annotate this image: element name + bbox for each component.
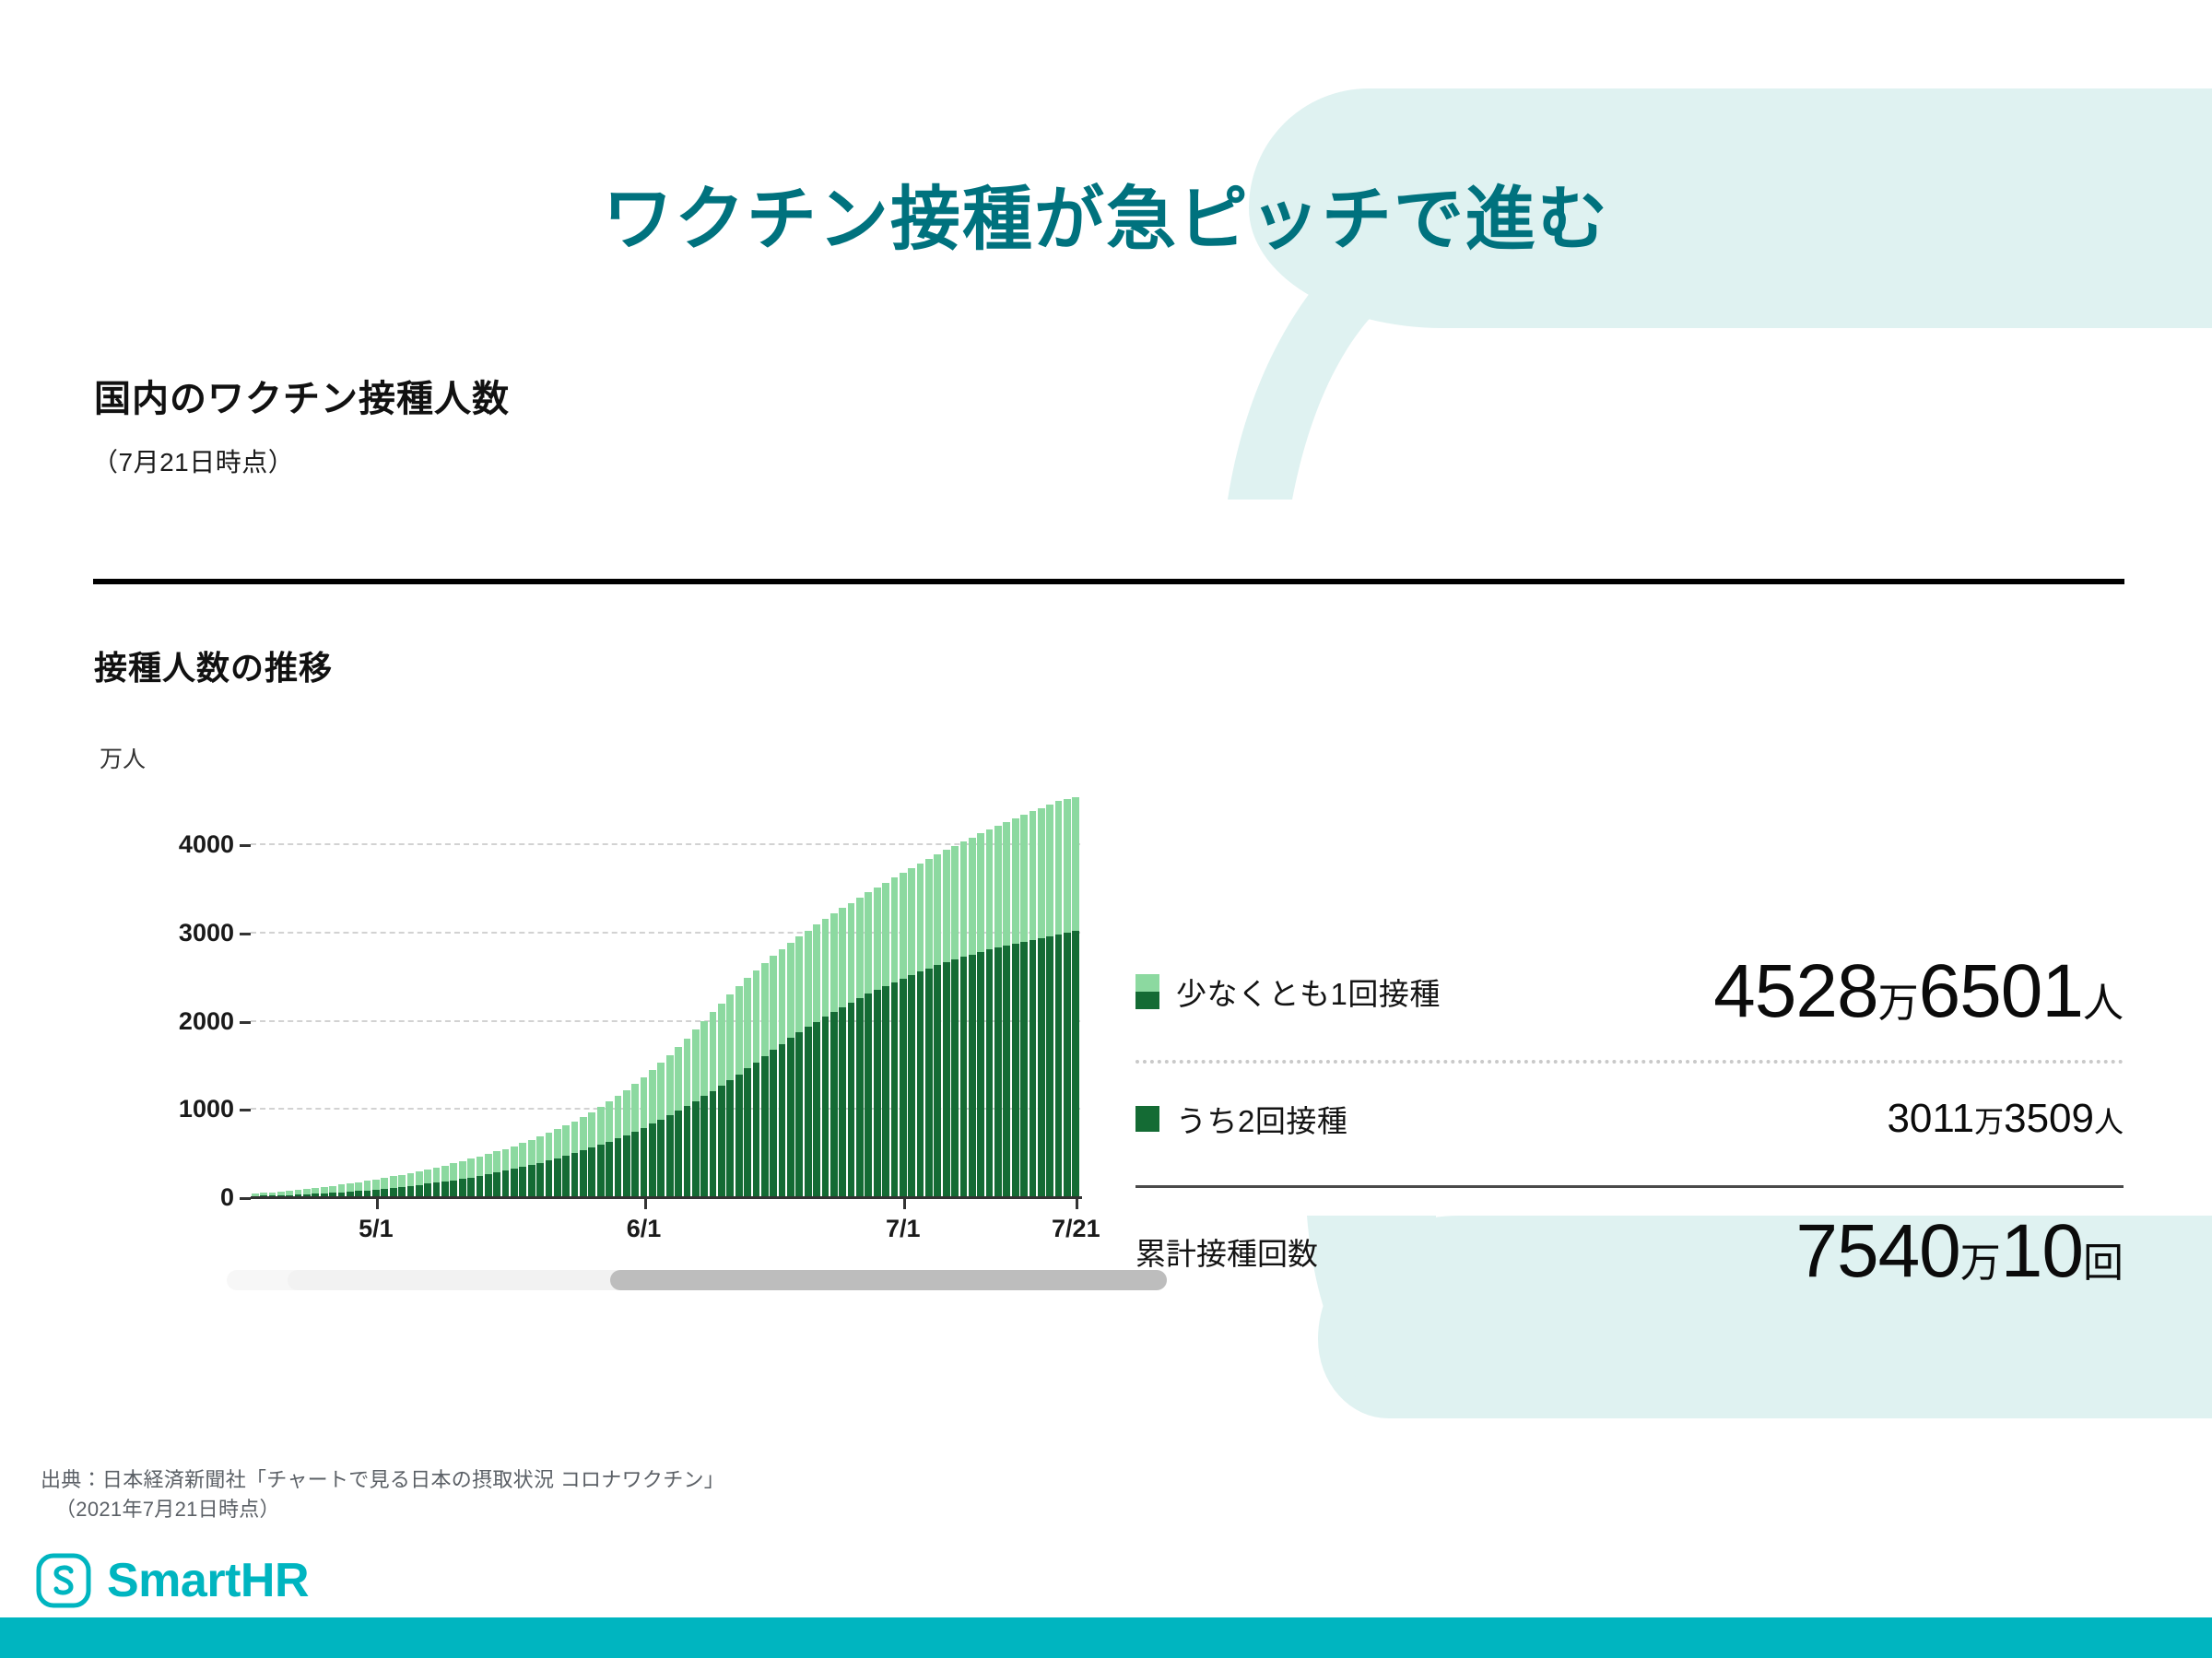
chart-scrollbar[interactable] [227, 1270, 1167, 1290]
chart-bar [950, 791, 959, 1196]
stat-value-main-2: 3011 [1887, 1096, 1974, 1141]
chart-bar [415, 791, 423, 1196]
chart-bar-segment-first-dose [1064, 799, 1071, 933]
chart-bar-segment-first-dose [830, 913, 838, 1011]
chart-bar [1072, 791, 1080, 1196]
chart-bar-segment-first-dose [615, 1096, 622, 1138]
chart-bar [847, 791, 855, 1196]
chart-bar-segment-second-dose [779, 1044, 786, 1196]
y-axis-tick-label: 1000 [179, 1095, 234, 1123]
chart-bar-segment-second-dose [372, 1190, 380, 1196]
chart-bar [865, 791, 873, 1196]
chart-bar-segment-second-dose [917, 971, 924, 1196]
chart-bar-segment-second-dose [753, 1063, 760, 1196]
slide-canvas: ワクチン接種が急ピッチで進む 国内のワクチン接種人数 （7月21日時点） 接種人… [0, 0, 2212, 1658]
smarthr-s-icon [35, 1552, 92, 1609]
stat-value-sub-3: 10 [2001, 1209, 2083, 1293]
chart-bar [908, 791, 916, 1196]
chart-bar [648, 791, 656, 1196]
chart-bar-segment-first-dose [934, 854, 941, 965]
chart-bar-segment-first-dose [761, 963, 769, 1056]
y-axis-tick-label: 2000 [179, 1007, 234, 1036]
chart-bar-segment-second-dose [822, 1017, 829, 1196]
chart-bar [286, 791, 294, 1196]
chart-bar [501, 791, 510, 1196]
chart-bar-segment-first-dose [960, 841, 968, 957]
stat-legend-two-doses: うち2回接種 [1135, 1097, 1347, 1141]
chart-bar [700, 791, 709, 1196]
chart-bar [1011, 791, 1019, 1196]
chart-bar-segment-first-dose [744, 978, 751, 1068]
chart-bar [873, 791, 881, 1196]
stat-value-two-doses: 3011万3509人 [1887, 1096, 2124, 1142]
chart-bar-segment-second-dose [485, 1174, 492, 1196]
chart-bar-segment-second-dose [597, 1145, 605, 1196]
chart-bar-segment-first-dose [347, 1183, 354, 1192]
y-axis-tick-mark [240, 1109, 251, 1111]
chart-bar-segment-first-dose [813, 924, 820, 1021]
bottom-brand-bar [0, 1617, 2212, 1658]
chart-bar [371, 791, 380, 1196]
chart-bar-segment-first-dose [943, 850, 950, 962]
chart-bar-segment-first-dose [398, 1175, 406, 1187]
chart-bar [726, 791, 735, 1196]
chart-bar [320, 791, 328, 1196]
chart-bar-segment-second-dose [684, 1106, 691, 1196]
chart-bar [596, 791, 605, 1196]
x-axis-tick-label: 6/1 [627, 1215, 662, 1243]
chart-bar-segment-first-dose [338, 1184, 346, 1192]
chart-bar-segment-first-dose [666, 1055, 674, 1115]
chart-bar [839, 791, 847, 1196]
chart-bar-segment-first-dose [726, 994, 734, 1080]
chart-bar [251, 791, 259, 1196]
chart-bar [674, 791, 682, 1196]
chart-bar [397, 791, 406, 1196]
chart-bar-segment-second-dose [934, 965, 941, 1196]
chart-bar-segment-first-dose [493, 1151, 500, 1172]
stat-value-main-1: 4528 [1713, 949, 1877, 1033]
chart-bar [770, 791, 778, 1196]
chart-bar [829, 791, 838, 1196]
smarthr-logo: SmartHR [35, 1552, 309, 1609]
legend-swatch-solid-icon [1135, 1106, 1159, 1132]
chart-bar [605, 791, 613, 1196]
chart-bar-segment-first-dose [606, 1101, 613, 1141]
chart-bar [640, 791, 648, 1196]
chart-bar-segment-first-dose [1030, 811, 1037, 940]
chart-bar [493, 791, 501, 1196]
source-note: 出典：日本経済新聞社「チャートで見る日本の摂取状況 コロナワクチン」 （2021… [41, 1465, 724, 1524]
stat-value-unit2-2: 人 [2094, 1105, 2124, 1138]
chart-bar [924, 791, 933, 1196]
chart-bar [579, 791, 587, 1196]
chart-bar-segment-second-dose [977, 952, 984, 1196]
chart-bar-segment-second-dose [1055, 935, 1063, 1196]
chart-bar [994, 791, 1002, 1196]
chart-bar-segment-first-dose [364, 1181, 371, 1190]
chart-bar-segment-second-dose [580, 1150, 587, 1196]
chart-bar-segment-second-dose [865, 994, 872, 1196]
x-axis-tick-label: 5/1 [359, 1215, 394, 1243]
chart-bar [614, 791, 622, 1196]
chart-bar-segment-first-dose [795, 936, 803, 1032]
chart-bar-segment-first-dose [580, 1117, 587, 1151]
chart-bar [1063, 791, 1071, 1196]
stat-legend-total-doses: 累計接種回数 [1135, 1229, 1318, 1274]
chart-bar-segment-first-dose [882, 883, 889, 986]
chart-bar-segment-first-dose [657, 1063, 665, 1120]
chart-bar [346, 791, 354, 1196]
chart-bar-segment-first-dose [355, 1182, 362, 1192]
chart-bar-segment-first-dose [986, 829, 994, 949]
chart-bar [1003, 791, 1011, 1196]
x-axis-tick-mark [376, 1196, 379, 1209]
chart-bar-segment-first-dose [994, 826, 1002, 947]
chart-bar-segment-first-dose [822, 919, 829, 1017]
chart-bar-segment-second-dose [1064, 933, 1071, 1196]
chart-bar-segment-first-dose [381, 1178, 388, 1189]
chart-bar-segment-first-dose [779, 949, 786, 1044]
chart-bar-segment-second-dose [467, 1178, 475, 1196]
chart-bar [466, 791, 475, 1196]
legend-swatch-split-icon [1135, 974, 1159, 1009]
chart-bar-segment-first-dose [1046, 805, 1053, 936]
chart-bar-segment-first-dose [321, 1187, 328, 1194]
chart-bar-segment-first-dose [848, 903, 855, 1003]
chart-bar-segment-second-dose [951, 959, 959, 1196]
chart-bar-segment-first-dose [839, 908, 846, 1006]
chart-bar-segment-second-dose [562, 1156, 570, 1196]
chart-bar-segment-second-dose [424, 1183, 431, 1196]
x-axis-tick-mark [903, 1196, 906, 1209]
chart-bar-segment-first-dose [787, 943, 794, 1038]
chart-bar [683, 791, 691, 1196]
chart-bar-segment-second-dose [856, 998, 864, 1196]
chart-bar [519, 791, 527, 1196]
chart-bar-segment-first-dose [874, 888, 881, 990]
chart-bar-segment-second-dose [882, 986, 889, 1196]
chart-bar-segment-first-dose [917, 864, 924, 972]
chart-bar-segment-second-dose [519, 1167, 526, 1196]
stat-value-unit1-2: 万 [1974, 1105, 2004, 1138]
chart-bar [259, 791, 267, 1196]
y-axis-tick-label: 3000 [179, 919, 234, 947]
chart-bar-segment-second-dose [994, 947, 1002, 1196]
chart-bar-segment-second-dose [554, 1158, 561, 1196]
chart-bar [450, 791, 458, 1196]
chart-bar-segment-second-dose [726, 1080, 734, 1196]
chart-bar [562, 791, 571, 1196]
chart-bar-segment-second-dose [459, 1179, 466, 1196]
chart-bar [328, 791, 336, 1196]
chart-bar [276, 791, 285, 1196]
chart-bar-segment-second-dose [813, 1022, 820, 1196]
chart-heading: 接種人数の推移 [94, 641, 333, 689]
chart-bar-segment-first-dose [856, 898, 864, 998]
x-axis-tick-mark [644, 1196, 647, 1209]
chart-bar [1019, 791, 1028, 1196]
chart-bar-segment-second-dose [416, 1185, 423, 1196]
chart-bar-segment-second-dose [606, 1142, 613, 1196]
chart-bar-segment-second-dose [528, 1165, 535, 1196]
chart-bar-segment-second-dose [692, 1101, 700, 1196]
chart-bar [804, 791, 812, 1196]
chart-bar-segment-first-dose [588, 1112, 595, 1148]
chart-bar [355, 791, 363, 1196]
x-axis-tick-label: 7/21 [1052, 1215, 1100, 1243]
stat-value-unit1-1: 万 [1878, 981, 1919, 1026]
chart-bar-segment-second-dose [450, 1181, 457, 1197]
chart-bar [527, 791, 535, 1196]
chart-bar-segment-first-dose [562, 1125, 570, 1156]
chart-bar [631, 791, 640, 1196]
chart-bar-segment-first-dose [467, 1158, 475, 1177]
chart-bar-segment-first-dose [805, 931, 812, 1028]
chart-bar-segment-first-dose [969, 838, 976, 955]
chart-bar [795, 791, 804, 1196]
chart-bar-segment-first-dose [684, 1039, 691, 1106]
stat-value-sub-1: 6501 [1919, 949, 2083, 1033]
chart-bar [821, 791, 829, 1196]
stat-value-at-least-one-dose: 4528万6501人 [1713, 948, 2124, 1035]
chart-bar-segment-first-dose [424, 1170, 431, 1183]
chart-bar-segment-second-dose [770, 1050, 777, 1196]
stats-panel: 少なくとも1回接種 4528万6501人 うち2回接種 3011万3509人 累… [1135, 940, 2124, 1306]
horizontal-divider [93, 579, 2124, 584]
chart-bar-segment-second-dose [908, 975, 915, 1196]
chart-bar-segment-first-dose [977, 833, 984, 952]
chart-bar [890, 791, 899, 1196]
chart-bar [1046, 791, 1054, 1196]
y-axis-tick-mark [240, 1197, 251, 1200]
chart-bar [916, 791, 924, 1196]
chart-bar [959, 791, 968, 1196]
chart-bar-segment-first-dose [536, 1136, 544, 1163]
chart-bar-segment-first-dose [1038, 808, 1045, 938]
chart-bar-segment-first-dose [710, 1012, 717, 1091]
chart-bar-segment-second-dose [795, 1032, 803, 1196]
chart-bar-segment-first-dose [718, 1004, 725, 1086]
chart-bar-segment-second-dose [657, 1120, 665, 1196]
chart-bar-segment-second-dose [433, 1182, 441, 1196]
chart-bar-segment-second-dose [441, 1182, 449, 1196]
chart-bar-segment-first-dose [1012, 818, 1019, 944]
chart-bar-segment-first-dose [1072, 797, 1079, 931]
chart-bar-segment-first-dose [951, 846, 959, 959]
chart-bar-segment-first-dose [407, 1173, 415, 1186]
chart-bar [778, 791, 786, 1196]
chart-bar-segment-second-dose [649, 1123, 656, 1196]
chart-bar-segment-first-dose [1003, 822, 1010, 946]
chart-bar-segment-first-dose [735, 986, 743, 1075]
chart-bar [545, 791, 553, 1196]
chart-bar [743, 791, 751, 1196]
chart-bar [1037, 791, 1045, 1196]
chart-bar-segment-second-dose [744, 1068, 751, 1196]
chart-bar [458, 791, 466, 1196]
chart-bar-segment-second-dose [493, 1172, 500, 1196]
chart-bar [691, 791, 700, 1196]
chart-bar-segment-first-dose [390, 1176, 397, 1187]
chart-bar-segment-second-dose [390, 1188, 397, 1196]
chart-bar [812, 791, 820, 1196]
chart-bar-segment-second-dose [536, 1163, 544, 1196]
stat-value-unit1-3: 万 [1960, 1241, 2001, 1286]
chart-bar-segment-second-dose [381, 1189, 388, 1196]
chart-bar [389, 791, 397, 1196]
chart-bar-segment-second-dose [830, 1012, 838, 1196]
chart-bar [424, 791, 432, 1196]
chart-bar-segment-first-dose [441, 1166, 449, 1182]
chart-bar [312, 791, 320, 1196]
chart-bar-segment-first-dose [511, 1146, 518, 1170]
chart-bar [337, 791, 346, 1196]
stats-dotted-separator [1135, 1060, 2124, 1064]
chart-bar-segment-first-dose [459, 1161, 466, 1179]
stat-label-total-doses: 累計接種回数 [1135, 1229, 1318, 1274]
chart-bar-segment-second-dose [615, 1138, 622, 1196]
chart-bar-segment-first-dose [477, 1157, 484, 1176]
stat-row-at-least-one-dose: 少なくとも1回接種 4528万6501人 [1135, 940, 2124, 1043]
chart-bar [622, 791, 630, 1196]
chart-bar-segment-first-dose [770, 956, 777, 1050]
chart-bar-segment-second-dose [805, 1027, 812, 1196]
chart-bar-segment-first-dose [1055, 801, 1063, 935]
chart-bar-segment-second-dose [839, 1007, 846, 1196]
chart-bar-segment-second-dose [874, 990, 881, 1196]
section-heading: 国内のワクチン接種人数 [94, 369, 510, 422]
stat-label-at-least-one-dose: 少なくとも1回接種 [1176, 970, 1441, 1014]
chart-bar-segment-second-dose [1030, 940, 1037, 1196]
chart-bar [934, 791, 942, 1196]
chart-scrollbar-thumb[interactable] [610, 1270, 1167, 1290]
chart-bar [855, 791, 864, 1196]
chart-bars [251, 791, 1080, 1196]
stat-value-sub-2: 3509 [2004, 1096, 2094, 1141]
chart-bar-segment-second-dose [675, 1111, 682, 1196]
chart-bar [881, 791, 889, 1196]
chart-bar [735, 791, 743, 1196]
chart-bar-segment-second-dose [891, 982, 899, 1196]
chart-bar [302, 791, 311, 1196]
stat-value-total-doses: 7540万10回 [1795, 1208, 2124, 1295]
chart-bar-segment-second-dose [641, 1128, 648, 1197]
chart-bar [381, 791, 389, 1196]
chart-bar-segment-first-dose [649, 1070, 656, 1123]
chart-bar-segment-first-dose [546, 1133, 553, 1160]
stat-value-unit2-1: 人 [2083, 981, 2124, 1026]
chart-bar-segment-second-dose [700, 1096, 708, 1196]
chart-bar [363, 791, 371, 1196]
chart-bar-segment-second-dose [407, 1186, 415, 1196]
chart-bar [588, 791, 596, 1196]
chart-bar [1054, 791, 1063, 1196]
smarthr-wordmark: SmartHR [107, 1553, 309, 1608]
y-axis-tick-mark [240, 844, 251, 847]
chart-bar-segment-first-dose [554, 1129, 561, 1158]
chart-bar-segment-first-dose [700, 1021, 708, 1097]
chart-bar [1029, 791, 1037, 1196]
chart-bar-segment-second-dose [398, 1187, 406, 1196]
chart-bar-segment-second-dose [623, 1135, 630, 1196]
chart-bar [294, 791, 302, 1196]
chart-bar-segment-first-dose [908, 868, 915, 975]
chart-bar [406, 791, 415, 1196]
chart-bar [760, 791, 769, 1196]
chart-bar-segment-first-dose [692, 1029, 700, 1101]
chart-bar-segment-second-dose [631, 1132, 639, 1196]
chart-bar-segment-second-dose [710, 1091, 717, 1196]
chart-bar-segment-first-dose [641, 1077, 648, 1128]
chart-bar-segment-first-dose [900, 873, 907, 979]
chart-bar-segment-second-dose [735, 1075, 743, 1196]
chart-bar-segment-first-dose [597, 1107, 605, 1145]
chart-bar [899, 791, 907, 1196]
chart-bar [942, 791, 950, 1196]
chart-bar-segment-first-dose [329, 1186, 336, 1194]
chart-bar-segment-second-dose [960, 957, 968, 1196]
chart-bar [752, 791, 760, 1196]
chart-bar [786, 791, 794, 1196]
source-note-line-1: 出典：日本経済新聞社「チャートで見る日本の摂取状況 コロナワクチン」 [41, 1465, 724, 1495]
chart-bar-segment-second-dose [787, 1038, 794, 1196]
chart-bar-segment-first-dose [312, 1188, 319, 1194]
chart-bar-segment-first-dose [416, 1171, 423, 1185]
section-subheading: （7月21日時点） [92, 442, 294, 479]
vaccination-trend-chart[interactable]: 万人 01000200030004000 5/16/17/17/21 [92, 737, 1097, 1290]
chart-bar [553, 791, 561, 1196]
chart-bar-segment-first-dose [925, 859, 933, 969]
chart-bar-segment-second-dose [986, 949, 994, 1196]
page-title: ワクチン接種が急ピッチで進む [0, 162, 2212, 264]
x-axis-tick-mark [1076, 1196, 1078, 1209]
chart-bar-segment-second-dose [969, 955, 976, 1196]
stat-row-two-doses: うち2回接種 3011万3509人 [1135, 1076, 2124, 1161]
chart-bar-segment-second-dose [511, 1169, 518, 1196]
chart-bar-segment-second-dose [1072, 931, 1079, 1196]
chart-bar-segment-second-dose [1012, 944, 1019, 1196]
stat-value-unit2-3: 回 [2083, 1241, 2124, 1286]
chart-bar [268, 791, 276, 1196]
chart-bar [510, 791, 518, 1196]
stats-solid-separator [1135, 1185, 2124, 1188]
chart-bar-segment-first-dose [433, 1168, 441, 1182]
chart-bar-segment-second-dose [1003, 946, 1010, 1196]
chart-bar [441, 791, 449, 1196]
chart-plot-area: 01000200030004000 [251, 791, 1080, 1196]
chart-bar [432, 791, 441, 1196]
chart-bar-segment-second-dose [571, 1153, 579, 1196]
chart-bar [968, 791, 976, 1196]
chart-bar [977, 791, 985, 1196]
chart-bar-segment-second-dose [666, 1115, 674, 1196]
chart-bar-segment-first-dose [891, 877, 899, 982]
chart-bar [657, 791, 665, 1196]
y-axis-tick-label: 4000 [179, 830, 234, 859]
chart-bar-segment-second-dose [588, 1147, 595, 1196]
chart-bar [665, 791, 674, 1196]
stat-label-two-doses: うち2回接種 [1176, 1097, 1347, 1141]
chart-bar-segment-first-dose [753, 970, 760, 1063]
chart-bar-segment-second-dose [943, 962, 950, 1196]
chart-bar-segment-second-dose [925, 969, 933, 1196]
x-axis-tick-label: 7/1 [886, 1215, 921, 1243]
y-axis-tick-label: 0 [220, 1183, 234, 1212]
source-note-line-2: （2021年7月21日時点） [41, 1495, 724, 1524]
chart-bar-segment-first-dose [623, 1090, 630, 1135]
chart-bar [985, 791, 994, 1196]
